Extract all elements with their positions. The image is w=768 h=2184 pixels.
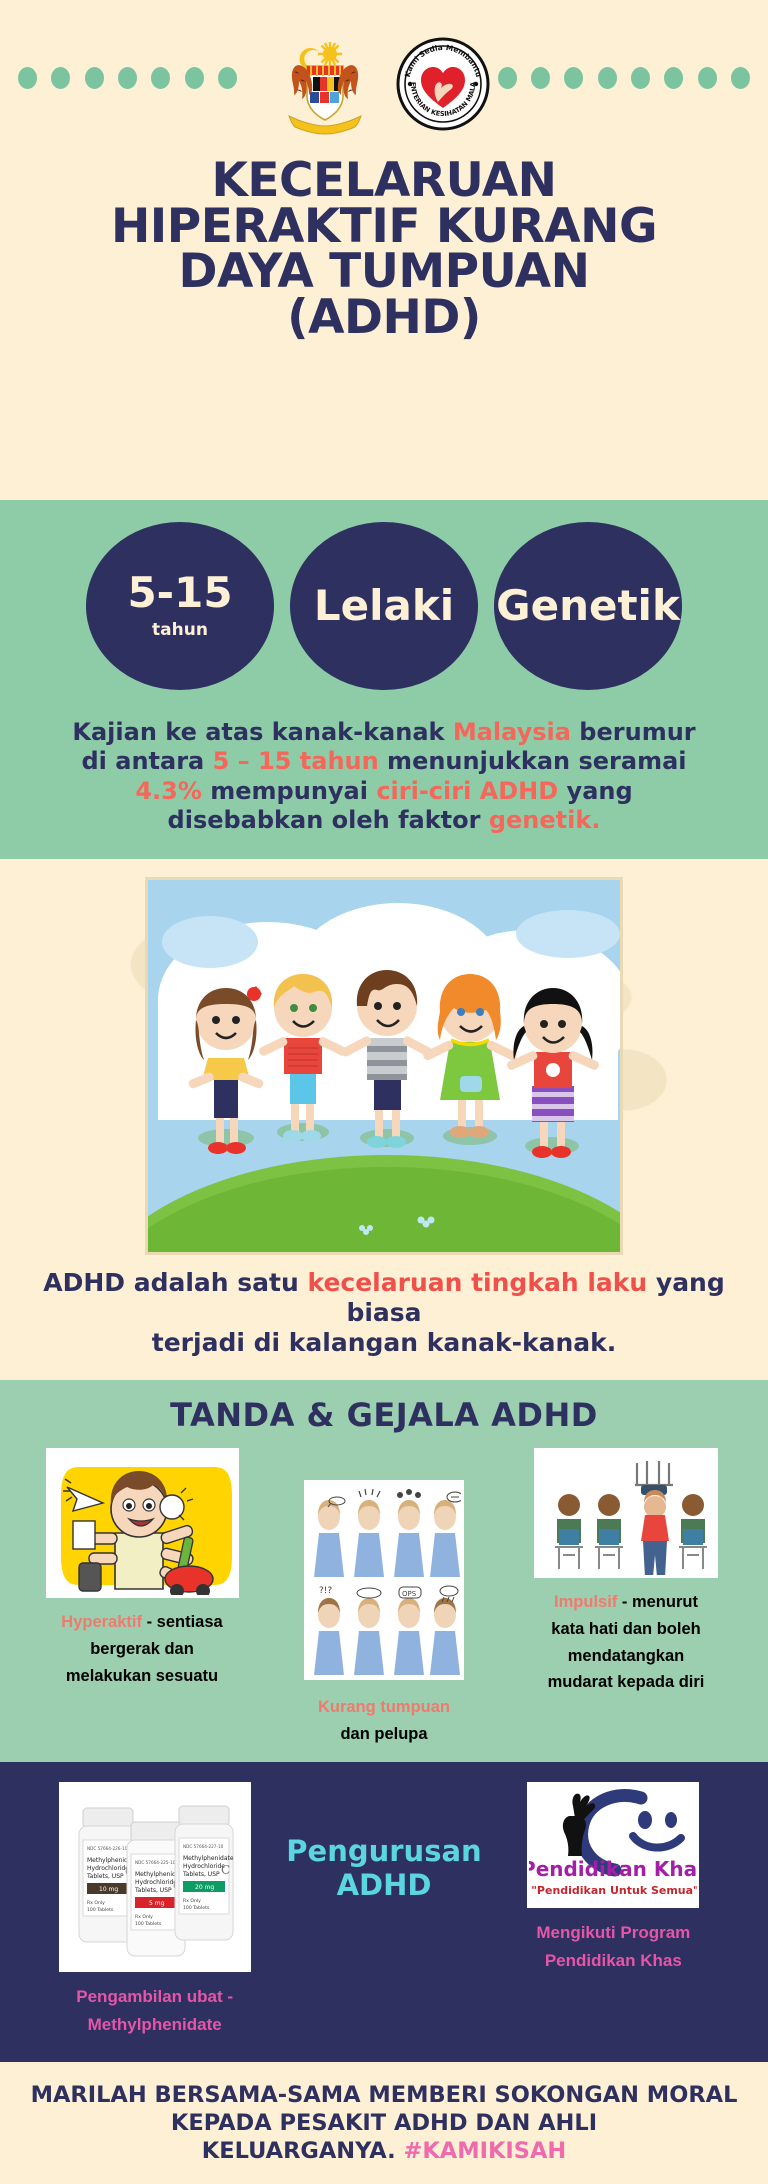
- jata-negara-malaysia-logo: [273, 32, 377, 136]
- intro-section: ADHD adalah satu kecelaruan tingkah laku…: [0, 859, 768, 1380]
- stat-p-l3b: yang: [558, 777, 632, 805]
- intro-text-line2: terjadi di kalangan kanak-kanak.: [152, 1328, 616, 1357]
- inattentive-girl-grid-photo: ?!? OPS: [304, 1480, 464, 1680]
- svg-text:Rx Only: Rx Only: [87, 1900, 105, 1906]
- management-title-line1: Pengurusan: [286, 1834, 481, 1868]
- sign-item-hyperactive: Hyperaktif - sentiasa bergerak dan melak…: [34, 1448, 250, 1689]
- footer-line2: KEPADA PESAKIT ADHD DAN AHLI: [171, 2110, 597, 2136]
- svg-text:5 mg: 5 mg: [149, 1900, 165, 1907]
- stat-p-l2a: di antara: [82, 747, 213, 775]
- svg-text:C: C: [221, 1863, 230, 1877]
- svg-text:Tablets, USP: Tablets, USP: [86, 1873, 124, 1880]
- stat-p-l4-highlight: genetik.: [489, 806, 601, 834]
- stat-gender-value: Lelaki: [314, 585, 454, 627]
- sign-label-hyperactive: Hyperaktif: [61, 1613, 142, 1631]
- svg-text:10 mg: 10 mg: [99, 1886, 118, 1893]
- stat-age-unit: tahun: [152, 620, 208, 640]
- signs-heading: TANDA & GEJALA ADHD: [0, 1396, 768, 1434]
- five-happy-children-illustration: [145, 877, 623, 1255]
- footer-hashtag: #KAMIKISAH: [404, 2138, 567, 2164]
- sign-label-inattentive: Kurang tumpuan: [318, 1698, 450, 1716]
- svg-text:Hydrochloride: Hydrochloride: [183, 1863, 225, 1870]
- svg-text:?!?: ?!?: [319, 1586, 332, 1596]
- svg-text:Hydrochloride: Hydrochloride: [87, 1865, 129, 1872]
- edu-caption-line2: Pendidikan Khas: [545, 1951, 682, 1970]
- stat-circle-row: 5-15 tahun Lelaki Genetik: [0, 522, 768, 690]
- med-caption-line1: Pengambilan ubat -: [76, 1987, 233, 2006]
- stat-p-l3a: mempunyai: [202, 777, 376, 805]
- stat-p-l3-highlight: ciri-ciri ADHD: [376, 777, 558, 805]
- stat-cause-value: Genetik: [496, 585, 680, 627]
- sign-caption-line2-1: bergerak dan: [90, 1640, 194, 1658]
- title-line-4: (ADHD): [287, 290, 481, 345]
- stat-circle-cause: Genetik: [494, 522, 682, 690]
- svg-text:OPS: OPS: [402, 1590, 417, 1598]
- stat-p-l1b: berumur: [571, 718, 696, 746]
- signs-symptoms-section: TANDA & GEJALA ADHD: [0, 1380, 768, 1761]
- med-caption-line2: Methylphenidate: [88, 2015, 222, 2034]
- sign-caption-impulsive: Impulsif - menurut kata hati dan boleh m…: [518, 1589, 734, 1696]
- methylphenidate-bottles-photo: NDC 57664-226-10 Methylphenidate Hydroch…: [59, 1782, 251, 1972]
- management-title-line2: ADHD: [337, 1868, 432, 1902]
- intro-text-highlight: kecelaruan tingkah laku: [307, 1268, 647, 1297]
- footer-section: MARILAH BERSAMA-SAMA MEMBERI SOKONGAN MO…: [0, 2062, 768, 2184]
- sign-caption-rest-1: - sentiasa: [142, 1613, 223, 1631]
- sign-item-inattentive: ?!? OPS: [284, 1448, 484, 1747]
- hyperactive-boy-many-arms-photo: [46, 1448, 239, 1598]
- intro-paragraph: ADHD adalah satu kecelaruan tingkah laku…: [0, 1268, 768, 1358]
- sign-item-impulsive: Impulsif - menurut kata hati dan boleh m…: [518, 1448, 734, 1696]
- svg-text:Hydrochloride: Hydrochloride: [135, 1879, 177, 1886]
- stat-p-l1a: Kajian ke atas kanak-kanak: [72, 718, 452, 746]
- svg-text:"Pendidikan Untuk Semua": "Pendidikan Untuk Semua": [532, 1884, 700, 1897]
- stat-p-l2b: menunjukkan seramai: [379, 747, 687, 775]
- footer-message: MARILAH BERSAMA-SAMA MEMBERI SOKONGAN MO…: [20, 2081, 748, 2166]
- management-item-special-education: Pendidikan Khas "Pendidikan Untuk Semua"…: [499, 1782, 728, 1976]
- kementerian-kesihatan-malaysia-logo: Kami Sedia Membantu KEMENTERIAN KESIHATA…: [391, 32, 495, 136]
- svg-text:NDC 57664-227-10: NDC 57664-227-10: [183, 1844, 224, 1849]
- sign-caption-line3-3: mendatangkan: [568, 1647, 684, 1665]
- statistics-paragraph: Kajian ke atas kanak-kanak Malaysia beru…: [0, 718, 768, 835]
- sign-caption-line3-1: melakukan sesuatu: [66, 1667, 218, 1685]
- svg-text:100 Tablets: 100 Tablets: [87, 1907, 114, 1913]
- svg-text:100 Tablets: 100 Tablets: [135, 1921, 162, 1927]
- management-item-medication: NDC 57664-226-10 Methylphenidate Hydroch…: [40, 1782, 269, 2040]
- sign-label-impulsive: Impulsif: [554, 1593, 617, 1611]
- signs-row: Hyperaktif - sentiasa bergerak dan melak…: [0, 1448, 768, 1747]
- management-caption-special-education: Mengikuti Program Pendidikan Khas: [499, 1919, 728, 1976]
- svg-text:Pendidikan Khas: Pendidikan Khas: [529, 1857, 699, 1881]
- management-title-block: Pengurusan ADHD: [269, 1782, 498, 1902]
- intro-text-a: ADHD adalah satu: [43, 1268, 307, 1297]
- stat-circle-gender: Lelaki: [290, 522, 478, 690]
- svg-text:Rx Only: Rx Only: [135, 1914, 153, 1920]
- sign-caption-rest-3: - menurut: [617, 1593, 698, 1611]
- svg-text:Methylphenidate: Methylphenidate: [183, 1855, 234, 1862]
- sign-caption-line4-3: mudarat kepada diri: [548, 1673, 705, 1691]
- infographic-page: Kami Sedia Membantu KEMENTERIAN KESIHATA…: [0, 0, 768, 1920]
- sign-caption-hyperactive: Hyperaktif - sentiasa bergerak dan melak…: [34, 1609, 250, 1689]
- svg-text:Rx Only: Rx Only: [183, 1898, 201, 1904]
- svg-text:100 Tablets: 100 Tablets: [183, 1905, 210, 1911]
- stat-age-value: 5-15: [127, 572, 232, 614]
- stat-p-l2-highlight: 5 – 15 tahun: [213, 747, 379, 775]
- management-row: NDC 57664-226-10 Methylphenidate Hydroch…: [0, 1782, 768, 2040]
- logo-row: Kami Sedia Membantu KEMENTERIAN KESIHATA…: [0, 32, 768, 136]
- svg-text:20 mg: 20 mg: [195, 1884, 214, 1891]
- management-caption-medication: Pengambilan ubat - Methylphenidate: [40, 1983, 269, 2040]
- stat-circle-age: 5-15 tahun: [86, 522, 274, 690]
- management-section: NDC 57664-226-10 Methylphenidate Hydroch…: [0, 1762, 768, 2062]
- sign-caption-line2-3: kata hati dan boleh: [551, 1620, 700, 1638]
- impulsive-boy-classroom-photo: [534, 1448, 718, 1578]
- sign-caption-line2-2: dan pelupa: [340, 1725, 427, 1743]
- stat-p-l1-highlight: Malaysia: [453, 718, 571, 746]
- header-section: Kami Sedia Membantu KEMENTERIAN KESIHATA…: [0, 0, 768, 500]
- sign-caption-inattentive: Kurang tumpuan dan pelupa: [284, 1694, 484, 1747]
- pendidikan-khas-logo: Pendidikan Khas "Pendidikan Untuk Semua": [527, 1782, 699, 1908]
- svg-text:Tablets, USP: Tablets, USP: [182, 1871, 220, 1878]
- svg-text:NDC 57664-225-10: NDC 57664-225-10: [135, 1860, 176, 1865]
- footer-line3: KELUARGANYA.: [202, 2138, 404, 2164]
- edu-caption-line1: Mengikuti Program: [536, 1923, 690, 1942]
- stat-p-percentage: 4.3%: [135, 777, 202, 805]
- stat-p-l4a: disebabkan oleh faktor: [168, 806, 489, 834]
- svg-text:Tablets, USP: Tablets, USP: [134, 1887, 172, 1894]
- svg-text:NDC 57664-226-10: NDC 57664-226-10: [87, 1846, 128, 1851]
- statistics-section: 5-15 tahun Lelaki Genetik Kajian ke atas…: [0, 500, 768, 859]
- page-title: KECELARUAN HIPERAKTIF KURANG DAYA TUMPUA…: [0, 158, 768, 340]
- footer-line1: MARILAH BERSAMA-SAMA MEMBERI SOKONGAN MO…: [31, 2082, 738, 2108]
